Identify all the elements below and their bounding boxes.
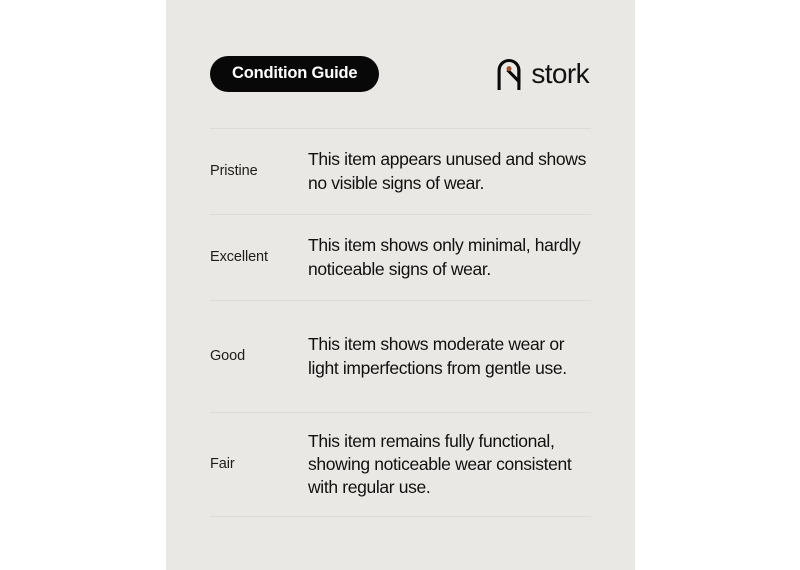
condition-label: Fair xyxy=(210,456,308,473)
brand-lockup: stork xyxy=(496,58,591,90)
table-row: Pristine This item appears unused and sh… xyxy=(210,129,591,214)
condition-guide-pill[interactable]: Condition Guide xyxy=(210,56,379,92)
screenshot-canvas: Condition Guide stork Pristine This item… xyxy=(0,0,800,570)
condition-description: This item shows moderate wear or light i… xyxy=(308,333,591,380)
card-header: Condition Guide stork xyxy=(210,55,591,93)
condition-description: This item remains fully functional, show… xyxy=(308,430,591,500)
condition-guide-card: Condition Guide stork Pristine This item… xyxy=(166,0,635,570)
brand-wordmark: stork xyxy=(531,60,589,88)
table-row: Fair This item remains fully functional,… xyxy=(210,413,591,516)
condition-description: This item appears unused and shows no vi… xyxy=(308,148,591,195)
condition-label: Excellent xyxy=(210,249,308,266)
condition-label: Good xyxy=(210,348,308,365)
row-divider xyxy=(210,516,591,517)
stork-arch-logo-icon xyxy=(496,58,522,90)
condition-description: This item shows only minimal, hardly not… xyxy=(308,234,591,281)
table-row: Good This item shows moderate wear or li… xyxy=(210,301,591,412)
table-row: Excellent This item shows only minimal, … xyxy=(210,215,591,300)
condition-label: Pristine xyxy=(210,163,308,180)
condition-guide-table: Pristine This item appears unused and sh… xyxy=(210,128,591,517)
